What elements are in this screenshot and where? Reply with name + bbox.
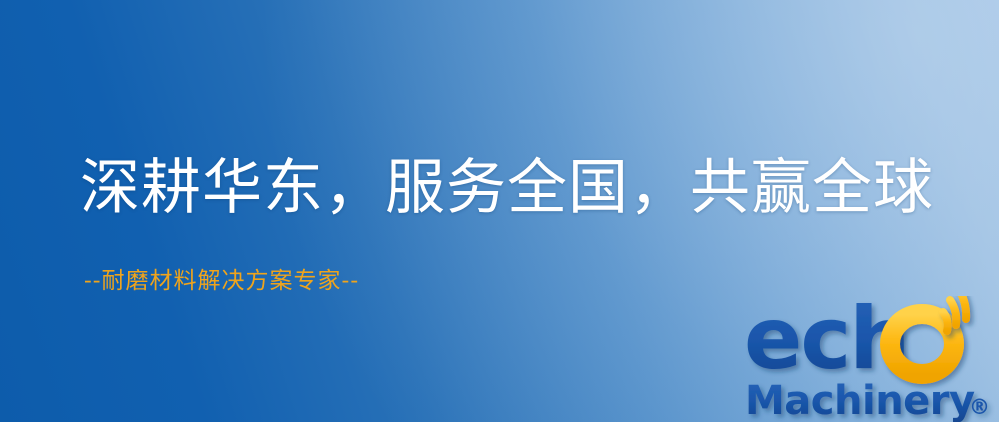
- registered-mark: ®: [969, 395, 990, 419]
- promo-banner: 深耕华东，服务全国，共赢全球 --耐磨材料解决方案专家--: [0, 0, 999, 422]
- logo-tagline: Machinery ®: [745, 378, 990, 422]
- echo-machinery-logo[interactable]: ech Machinery ®: [744, 296, 999, 422]
- banner-headline: 深耕华东，服务全国，共赢全球: [80, 152, 934, 224]
- logo-artwork: ech Machinery ®: [744, 296, 999, 422]
- banner-subtitle: --耐磨材料解决方案专家--: [84, 266, 359, 296]
- signal-waves-icon: [943, 296, 966, 331]
- logo-tagline-text: Machinery: [745, 378, 975, 422]
